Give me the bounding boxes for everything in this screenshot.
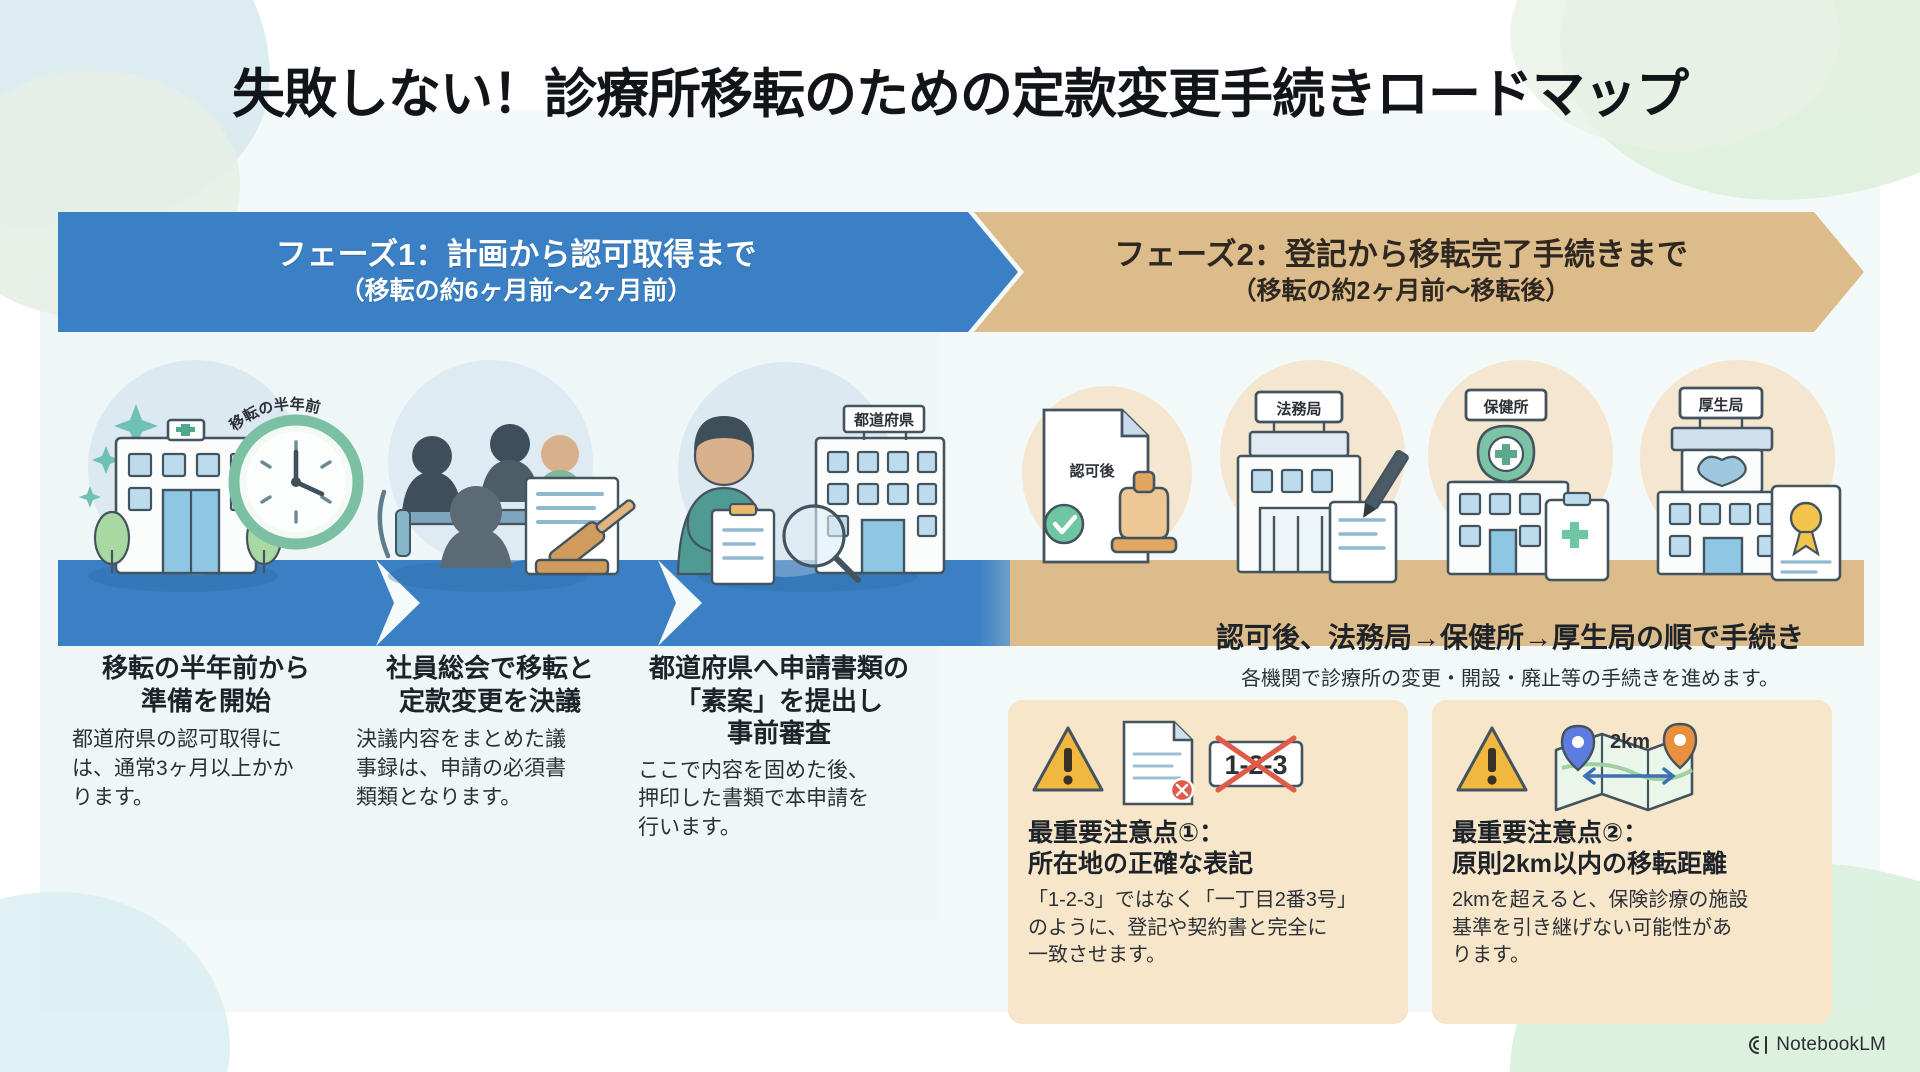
warning-1-graphic: 1-2-3 xyxy=(1028,714,1388,818)
seal-icon xyxy=(1791,503,1821,533)
step-3-body: ここで内容を固めた後、 押印した書類で本申請を 行います。 xyxy=(638,757,920,844)
illustration-legal-bureau: 法務局 xyxy=(1206,360,1421,610)
watermark-label: NotebookLM xyxy=(1776,1034,1886,1056)
illustration-step-2 xyxy=(358,360,648,610)
welfare-bureau-label: 厚生局 xyxy=(1698,396,1743,414)
step-3-heading: 都道府県へ申請書類の 「素案」を提出し 事前審査 xyxy=(638,652,920,750)
health-center-graphic: 保健所 xyxy=(1414,360,1629,610)
medical-cross-icon xyxy=(1478,426,1534,482)
notebooklm-icon xyxy=(1747,1035,1769,1055)
welfare-bureau-graphic: 厚生局 xyxy=(1624,360,1854,610)
phase-2-summary-heading: 認可後、法務局→保健所→厚生局の順で手続き xyxy=(1160,616,1860,656)
legal-bureau-label: 法務局 xyxy=(1276,400,1321,418)
step-card-2: 社員総会で移転と 定款変更を決議 決議内容をまとめた議 事録は、申請の必須書 類… xyxy=(356,652,624,813)
step-1-body: 都道府県の認可取得に は、通常3ヶ月以上かか ります。 xyxy=(72,726,340,813)
address-format-crossed-icon: 1-2-3 xyxy=(1210,738,1302,790)
health-center-label: 保健所 xyxy=(1482,398,1528,416)
warning-card-list: 1-2-3 最重要注意点①： 所在地の正確な表記 「1-2-3」ではなく「一丁目… xyxy=(1008,700,1868,1030)
illustration-welfare-bureau: 厚生局 xyxy=(1624,360,1854,610)
step-1-heading: 移転の半年前から 準備を開始 xyxy=(72,652,340,717)
phase-2-summary: 認可後、法務局→保健所→厚生局の順で手続き 各機関で診療所の変更・開設・廃止等の… xyxy=(1160,616,1860,691)
clinic-clock-graphic: 移転の半年前 xyxy=(68,360,368,610)
step-2-heading: 社員総会で移転と 定款変更を決議 xyxy=(356,652,624,717)
phase-banner-2: フェーズ2：登記から移転完了手続きまで （移転の約2ヶ月前〜移転後） xyxy=(974,212,1864,332)
phase-2-summary-subheading: 各機関で診療所の変更・開設・廃止等の手続きを進めます。 xyxy=(1160,662,1860,691)
watermark: NotebookLM xyxy=(1747,1034,1886,1056)
warning-card-1: 1-2-3 最重要注意点①： 所在地の正確な表記 「1-2-3」ではなく「一丁目… xyxy=(1008,700,1408,1024)
approval-document-graphic: 認可後 xyxy=(1008,380,1208,610)
warning-2-icons: 2km xyxy=(1452,714,1812,818)
check-circle-icon xyxy=(1045,505,1083,543)
warning-2-heading: 最重要注意点②： 原則2km以内の移転距離 xyxy=(1452,818,1812,880)
meeting-gavel-graphic xyxy=(358,360,648,610)
phase-1-title: フェーズ1：計画から認可取得まで xyxy=(276,237,757,274)
phase-1-subtitle: （移転の約6ヶ月前〜2ヶ月前） xyxy=(276,276,757,307)
warning-card-2: 2km 最重要注意点②： 原則2km以内の移転距離 2kmを超えると、保険診療の… xyxy=(1432,700,1832,1024)
step-card-3: 都道府県へ申請書類の 「素案」を提出し 事前審査 ここで内容を固めた後、 押印し… xyxy=(638,652,920,843)
warning-1-body: 「1-2-3」ではなく「一丁目2番3号」 のように、登記や契約書と完全に 一致さ… xyxy=(1028,887,1388,970)
prefecture-submission-graphic: 都道府県 xyxy=(638,360,968,610)
approval-label: 認可後 xyxy=(1069,462,1115,480)
warning-2-graphic: 2km xyxy=(1452,714,1812,818)
warning-2-icon-note: 2km xyxy=(1610,731,1650,753)
phase-banner-1: フェーズ1：計画から認可取得まで （移転の約6ヶ月前〜2ヶ月前） xyxy=(58,212,1018,332)
map-distance-icon: 2km xyxy=(1556,724,1696,810)
phase-2-subtitle: （移転の約2ヶ月前〜移転後） xyxy=(1114,276,1688,307)
document-error-icon xyxy=(1124,722,1193,804)
illustration-approval: 認可後 xyxy=(1008,380,1208,610)
step-2-body: 決議内容をまとめた議 事録は、申請の必須書 類類となります。 xyxy=(356,726,624,813)
page-title: 失敗しない！診療所移転のための定款変更手続きロードマップ xyxy=(0,52,1920,128)
illustration-label-step-3: 都道府県 xyxy=(853,411,914,429)
illustration-health-center: 保健所 xyxy=(1414,360,1629,610)
alert-triangle-icon xyxy=(1034,728,1102,790)
illustration-step-3: 都道府県 xyxy=(638,360,968,610)
phase-banner-row: フェーズ1：計画から認可取得まで （移転の約6ヶ月前〜2ヶ月前） フェーズ2：登… xyxy=(58,212,1864,332)
warning-2-body: 2kmを超えると、保険診療の施設 基準を引き継げない可能性があ ります。 xyxy=(1452,887,1812,970)
step-card-1: 移転の半年前から 準備を開始 都道府県の認可取得に は、通常3ヶ月以上かか りま… xyxy=(72,652,340,813)
alert-triangle-icon xyxy=(1458,728,1526,790)
legal-bureau-graphic: 法務局 xyxy=(1206,360,1421,610)
warning-1-heading: 最重要注意点①： 所在地の正確な表記 xyxy=(1028,818,1388,880)
illustration-row: 移転の半年前 xyxy=(58,350,1864,610)
warning-1-icons: 1-2-3 xyxy=(1028,714,1388,818)
illustration-step-1: 移転の半年前 xyxy=(68,360,368,610)
phase-2-title: フェーズ2：登記から移転完了手続きまで xyxy=(1114,237,1688,274)
